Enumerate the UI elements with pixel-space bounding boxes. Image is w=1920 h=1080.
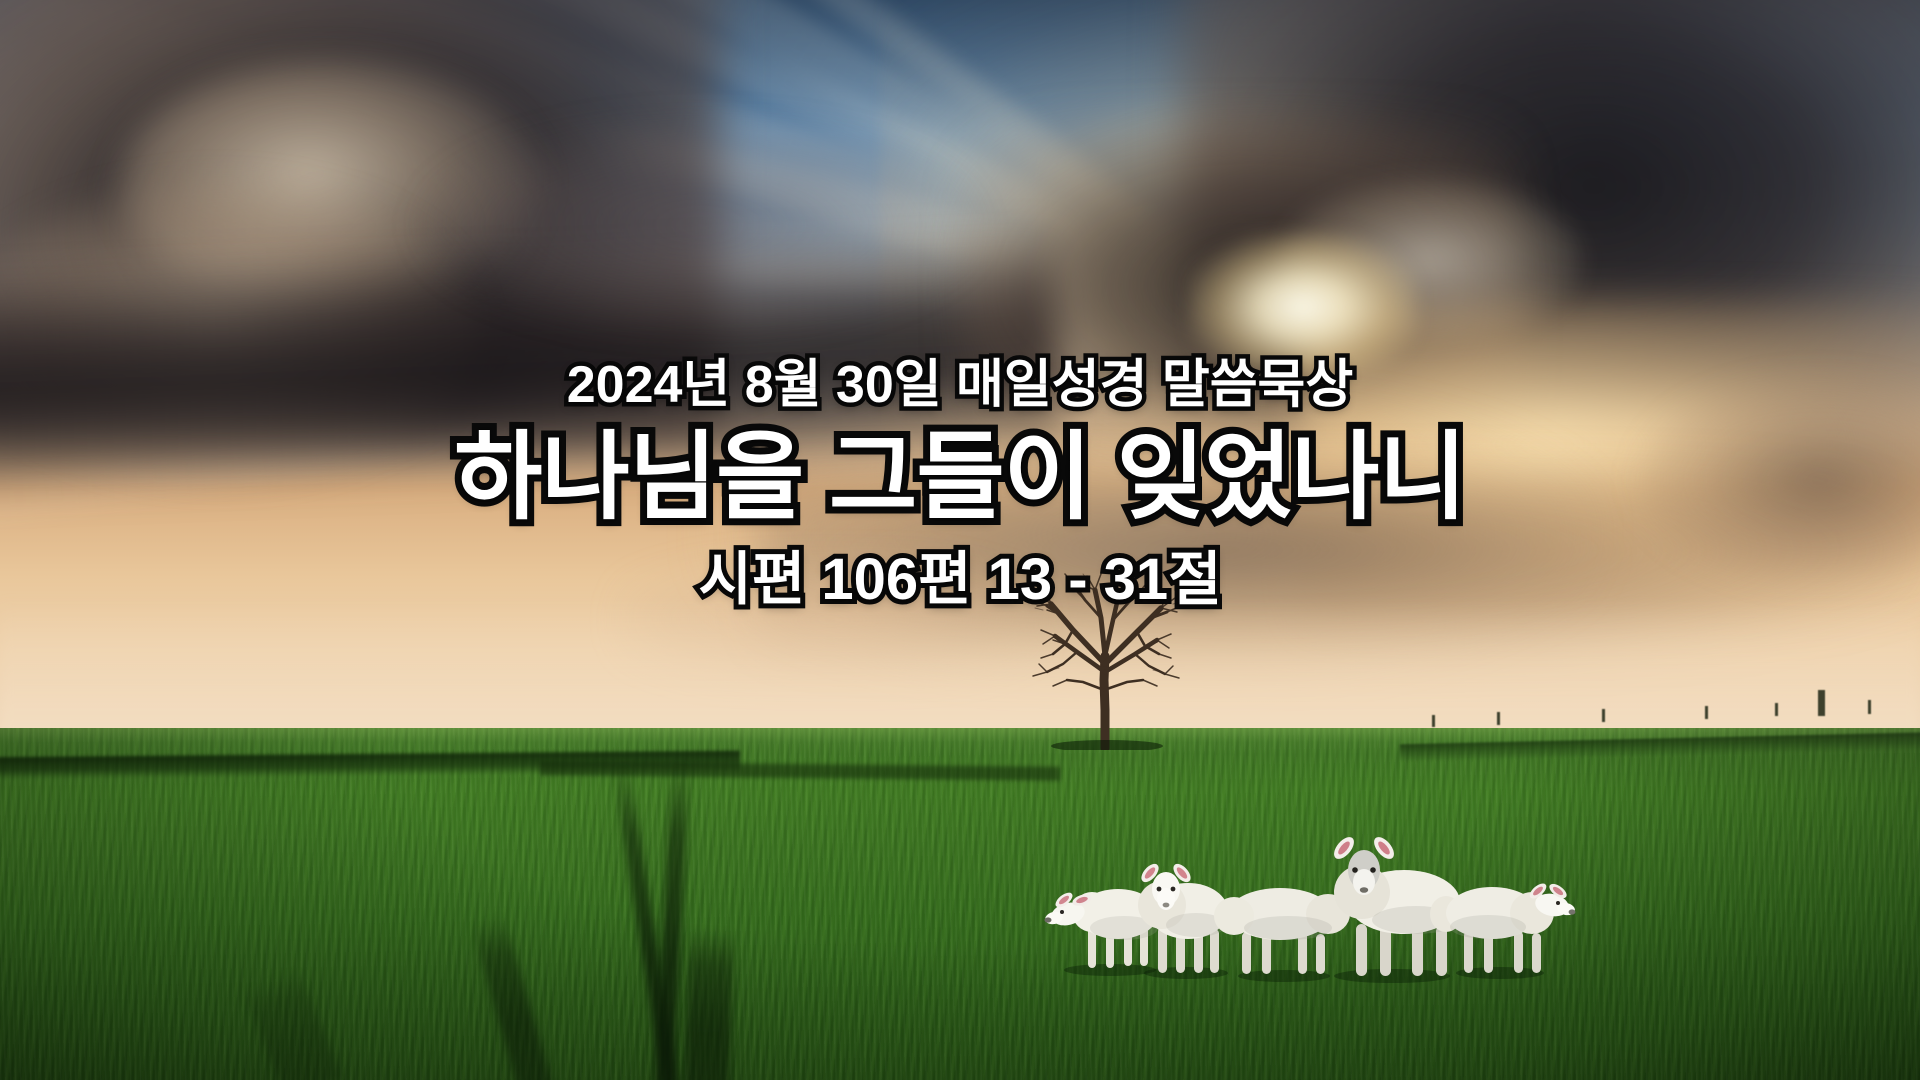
fence-post-3 — [1705, 706, 1708, 719]
fence-post-5 — [1818, 690, 1825, 716]
devotional-date-line: 2024년 8월 30일 매일성경 말씀묵상 — [0, 352, 1920, 418]
ground-vignette — [0, 728, 1920, 1080]
fence-post-1 — [1497, 712, 1500, 725]
cloud-wisp-center — [420, 120, 980, 330]
page-title: 하나님을 그들이 잊었나니 — [0, 418, 1920, 538]
sheep-5 — [1428, 855, 1578, 990]
scripture-reference: 시편 106편 13 - 31절 — [0, 542, 1920, 618]
fence-post-7 — [1432, 715, 1435, 727]
fence-post-6 — [1868, 700, 1871, 714]
title-overlay: 2024년 8월 30일 매일성경 말씀묵상 하나님을 그들이 잊었나니 시편 … — [0, 352, 1920, 618]
fence-post-2 — [1602, 709, 1605, 722]
grass-field — [0, 728, 1920, 1080]
fence-post-4 — [1775, 703, 1778, 716]
title-card: 2024년 8월 30일 매일성경 말씀묵상 하나님을 그들이 잊었나니 시편 … — [0, 0, 1920, 1080]
